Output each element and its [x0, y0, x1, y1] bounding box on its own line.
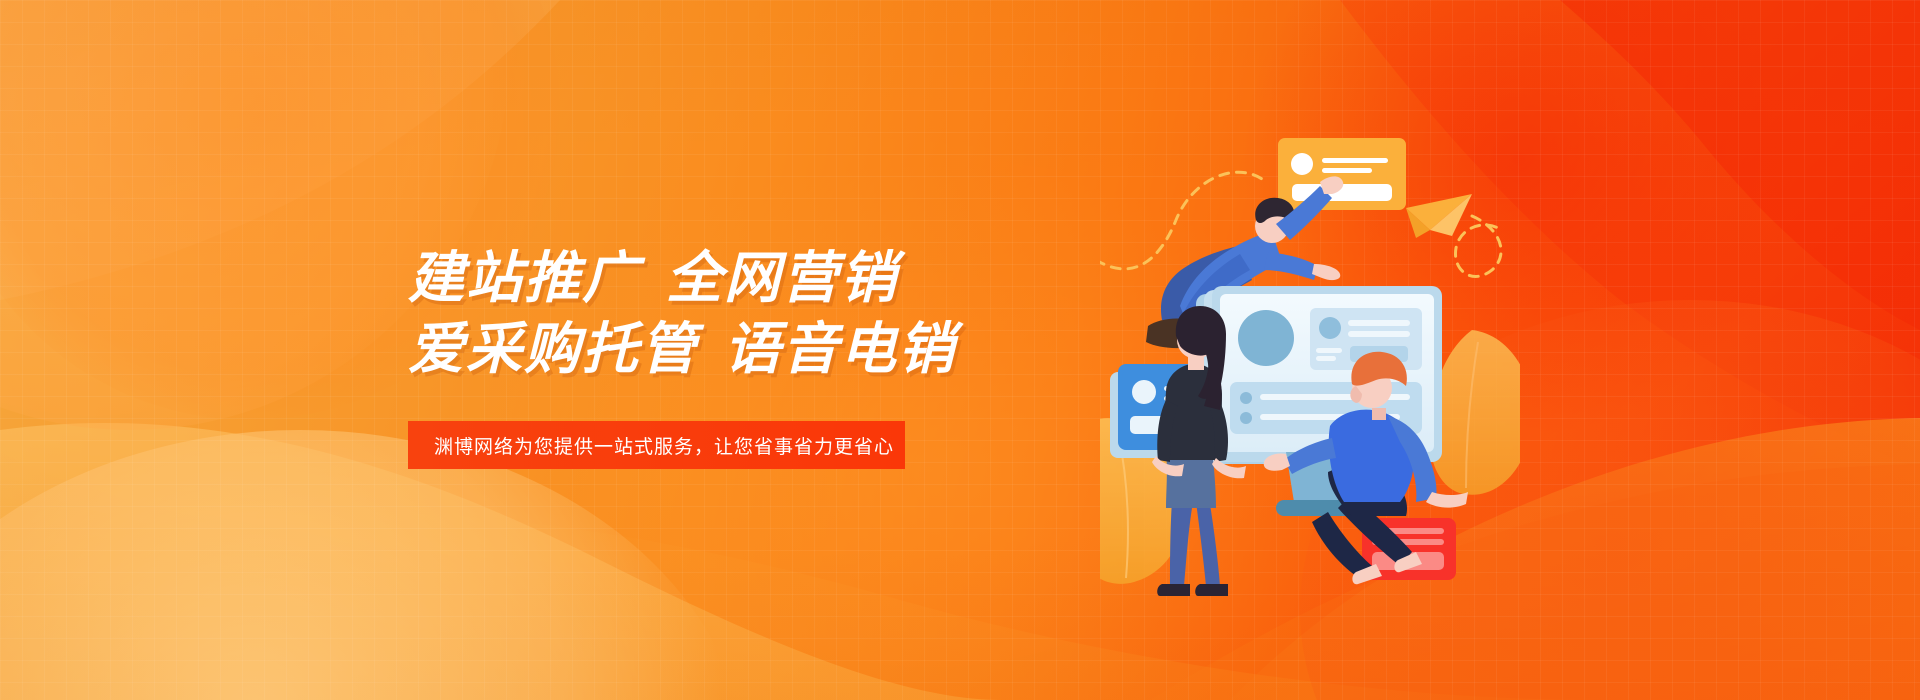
headline-line-1: 建站推广全网营销: [408, 243, 1048, 314]
ribbon-text: 渊博网络为您提供一站式服务，让您省事省力更省心: [408, 432, 894, 459]
paper-plane-icon: [1406, 194, 1472, 238]
team-website-illustration: [1100, 120, 1520, 620]
floating-form-card: [1278, 138, 1406, 210]
headline-block: 建站推广全网营销 爱采购托管语音电销: [408, 243, 1048, 384]
headline-line-1-part-a: 建站推广: [408, 246, 640, 309]
headline-line-2-part-b: 语音电销: [724, 317, 956, 380]
headline-line-2: 爱采购托管语音电销: [408, 314, 1048, 385]
headline-line-1-part-b: 全网营销: [666, 246, 898, 309]
dashed-route-line-right: [1455, 216, 1501, 276]
tagline-ribbon: 渊博网络为您提供一站式服务，让您省事省力更省心: [408, 421, 905, 469]
leaf-shape-right: [1429, 330, 1520, 495]
promo-banner: 建站推广全网营销 爱采购托管语音电销 渊博网络为您提供一站式服务，让您省事省力更…: [0, 0, 1920, 700]
headline-line-2-part-a: 爱采购托管: [408, 317, 698, 380]
